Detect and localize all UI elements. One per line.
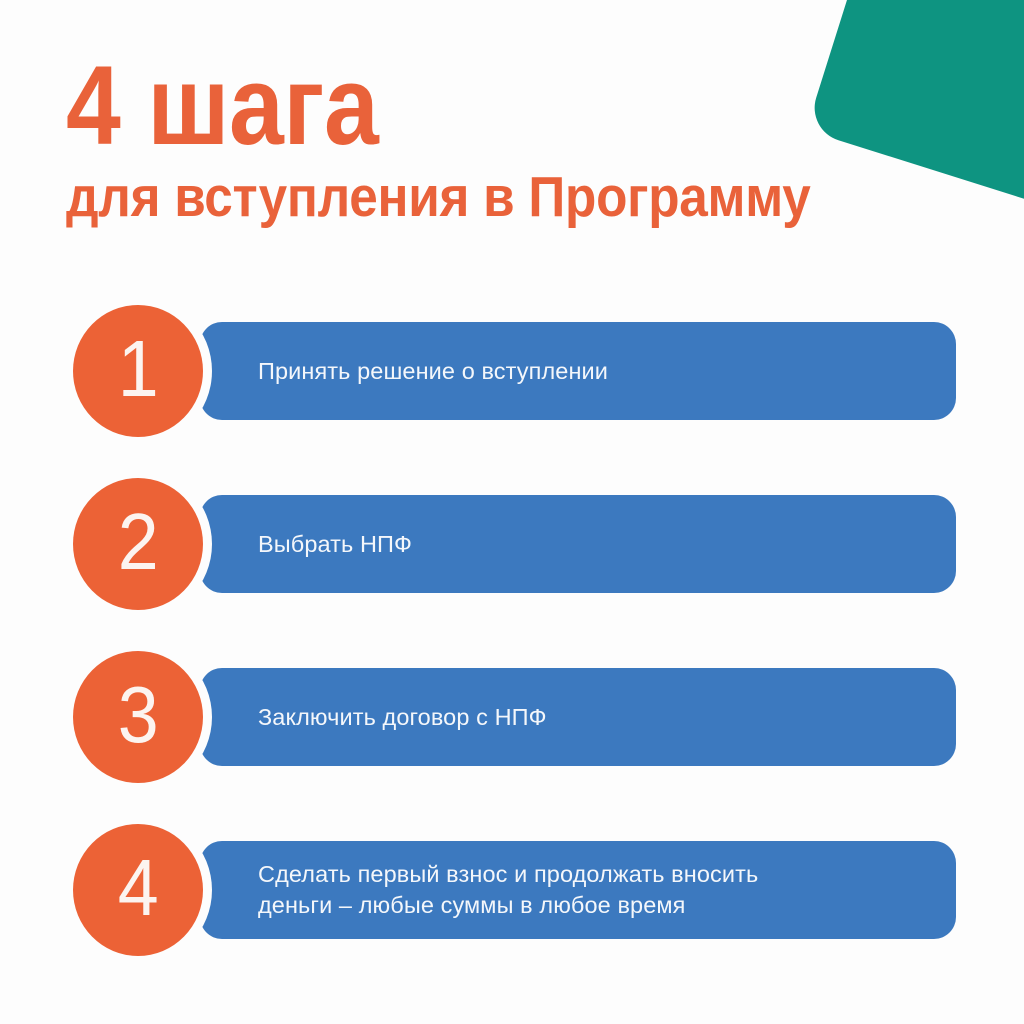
infographic-poster: 4 шага для вступления в Программу Принят…: [0, 0, 1024, 1024]
list-item: Выбрать НПФ 2: [0, 475, 1024, 648]
step-bar: Сделать первый взнос и продолжать вносит…: [200, 841, 956, 939]
list-item: Принять решение о вступлении 1: [0, 302, 1024, 475]
list-item: Заключить договор с НПФ 3: [0, 648, 1024, 821]
step-bar: Заключить договор с НПФ: [200, 668, 956, 766]
step-number: 2: [118, 502, 158, 582]
step-badge: 3: [73, 651, 203, 783]
step-label: Принять решение о вступлении: [200, 356, 638, 387]
step-number: 3: [118, 675, 158, 755]
step-label: Сделать первый взнос и продолжать вносит…: [200, 859, 788, 921]
step-label: Выбрать НПФ: [200, 529, 442, 560]
step-bar: Принять решение о вступлении: [200, 322, 956, 420]
step-badge: 4: [73, 824, 203, 956]
step-label: Заключить договор с НПФ: [200, 702, 577, 733]
steps-list: Принять решение о вступлении 1 Выбрать Н…: [0, 302, 1024, 994]
headline-subtitle: для вступления в Программу: [66, 166, 876, 228]
page-title: 4 шага для вступления в Программу: [66, 54, 966, 228]
headline-main: 4 шага: [66, 54, 858, 158]
step-badge: 2: [73, 478, 203, 610]
step-number: 1: [118, 329, 158, 409]
step-bar: Выбрать НПФ: [200, 495, 956, 593]
step-badge: 1: [73, 305, 203, 437]
step-number: 4: [118, 848, 158, 928]
list-item: Сделать первый взнос и продолжать вносит…: [0, 821, 1024, 994]
